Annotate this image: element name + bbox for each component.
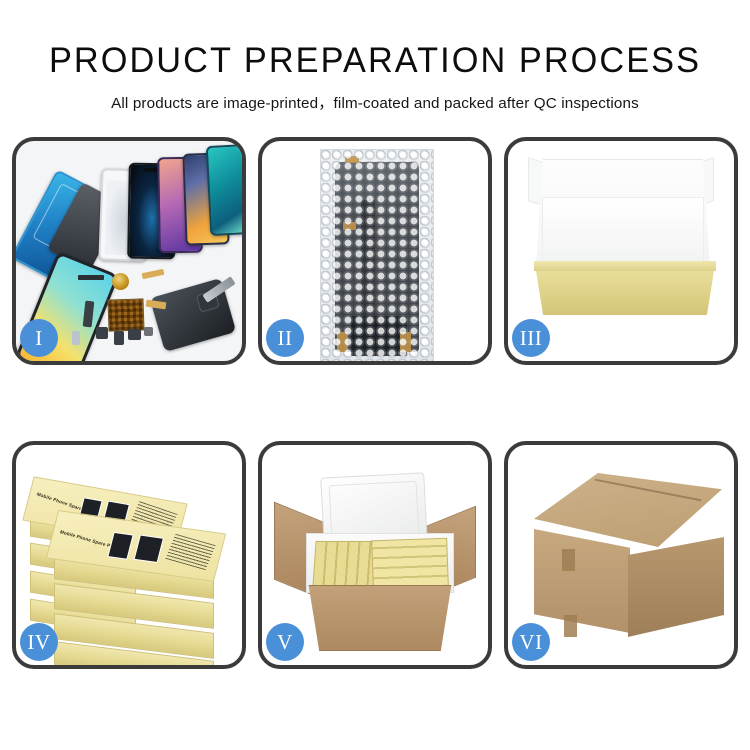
sensor-part xyxy=(72,331,80,345)
box-window-front-2 xyxy=(134,535,164,563)
step-badge-4: IV xyxy=(20,623,58,661)
process-step-panel-5[interactable]: V xyxy=(258,441,492,669)
yellow-boxes-row-2 xyxy=(371,538,449,589)
tape-bottom-right xyxy=(400,332,411,352)
box-window-front-1 xyxy=(107,532,133,560)
page-subtitle: All products are image-printed，film-coat… xyxy=(0,82,750,113)
mailer-front-wall xyxy=(536,271,714,315)
sim-tray-part xyxy=(128,329,141,340)
bubble-wrap-bag xyxy=(320,149,434,361)
connector-block xyxy=(351,316,407,356)
step-badge-1: I xyxy=(20,319,58,357)
carton-side-face xyxy=(628,537,724,637)
process-step-panel-4[interactable]: Mobile Phone Spare Parts Mobile Phone Sp… xyxy=(12,441,246,669)
process-step-panel-2[interactable]: II xyxy=(258,137,492,365)
screw-tray-part xyxy=(107,298,144,331)
process-step-panel-3[interactable]: III xyxy=(504,137,738,365)
mailer-rim xyxy=(534,261,716,271)
step-badge-2: II xyxy=(266,319,304,357)
flex-cable-part xyxy=(78,275,104,280)
button-part xyxy=(144,327,153,336)
small-bracket-part xyxy=(114,331,124,345)
page-title: PRODUCT PREPARATION PROCESS xyxy=(8,0,743,82)
carton-front-face xyxy=(534,529,630,633)
teal-gradient-phone xyxy=(206,144,242,236)
tape-top xyxy=(345,156,359,163)
gold-connector-part xyxy=(146,300,167,310)
speaker-coil-part xyxy=(112,273,129,290)
box-stack: Mobile Phone Spare Parts Mobile Phone Sp… xyxy=(22,451,236,659)
step-badge-6: VI xyxy=(512,623,550,661)
tape-bottom-left xyxy=(337,332,348,352)
page-header: PRODUCT PREPARATION PROCESS All products… xyxy=(0,0,750,113)
carton-tape-lower xyxy=(564,615,577,637)
carton-tape-upper xyxy=(562,549,575,571)
vibrator-part xyxy=(96,327,108,339)
process-step-panel-1[interactable]: I xyxy=(12,137,246,365)
process-step-grid: I II III xyxy=(12,137,738,669)
step-badge-5: V xyxy=(266,623,304,661)
step-badge-3: III xyxy=(512,319,550,357)
tape-middle xyxy=(343,222,356,230)
box-spec-lines-front xyxy=(165,534,216,572)
gold-flex-part xyxy=(142,269,165,279)
carton-body xyxy=(304,585,456,651)
process-step-panel-6[interactable]: VI xyxy=(504,441,738,669)
